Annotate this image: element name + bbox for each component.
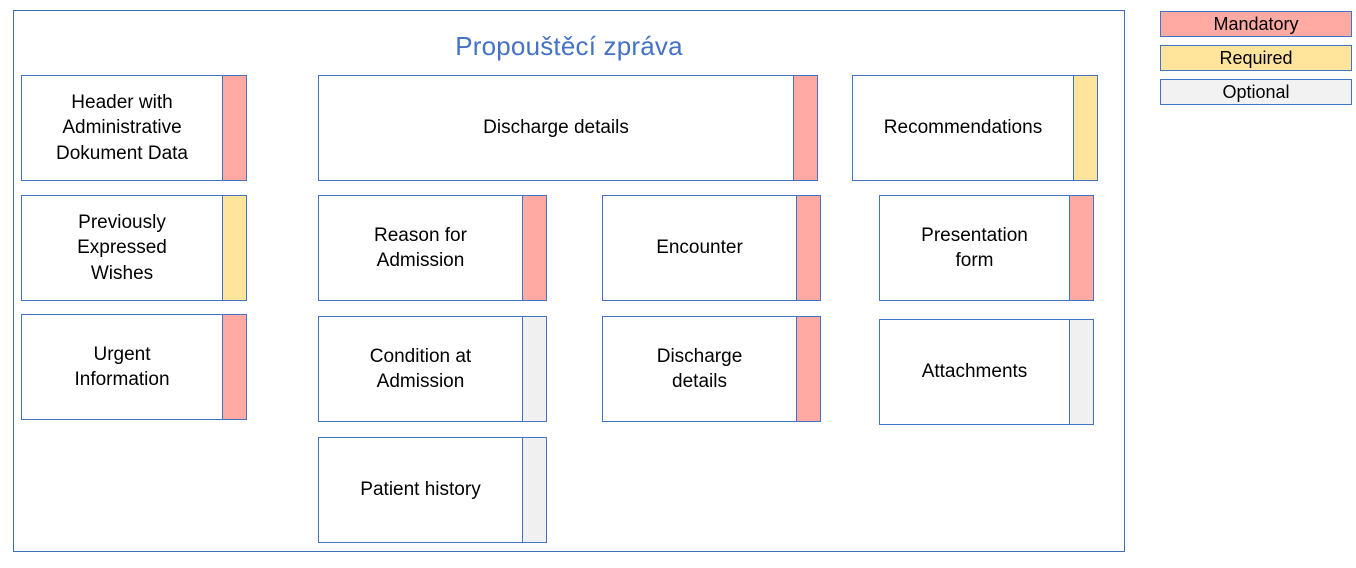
section-level-stripe-mandatory [794,75,818,181]
section-level-stripe-optional [1070,319,1094,425]
section-discharge-details-main[interactable]: Discharge details [318,75,818,181]
section-level-stripe-mandatory [1070,195,1094,301]
section-level-stripe-mandatory [797,195,821,301]
section-attachments[interactable]: Attachments [879,319,1094,425]
section-encounter[interactable]: Encounter [602,195,821,301]
section-level-stripe-required [1074,75,1098,181]
section-reason-for-admission[interactable]: Reason for Admission [318,195,547,301]
section-condition-at-admission[interactable]: Condition at Admission [318,316,547,422]
section-level-stripe-mandatory [223,75,247,181]
section-level-stripe-mandatory [223,314,247,420]
section-label: Encounter [602,195,797,301]
section-label: Recommendations [852,75,1074,181]
section-label: Reason for Admission [318,195,523,301]
section-level-stripe-required [223,195,247,301]
diagram-canvas: Propouštěcí zpráva Header with Administr… [0,0,1356,568]
page-title: Propouštěcí zpráva [14,31,1124,62]
legend: Mandatory Required Optional [1160,11,1352,113]
section-level-stripe-optional [523,437,547,543]
section-label: Discharge details [318,75,794,181]
section-label: Presentation form [879,195,1070,301]
section-level-stripe-mandatory [797,316,821,422]
section-recommendations[interactable]: Recommendations [852,75,1098,181]
section-label: Header with Administrative Dokument Data [21,75,223,181]
section-header-administrative-dokument-data[interactable]: Header with Administrative Dokument Data [21,75,247,181]
discharge-report-container: Propouštěcí zpráva Header with Administr… [13,10,1125,552]
section-label: Condition at Admission [318,316,523,422]
legend-item-mandatory: Mandatory [1160,11,1352,37]
section-presentation-form[interactable]: Presentation form [879,195,1094,301]
section-label: Urgent Information [21,314,223,420]
section-previously-expressed-wishes[interactable]: Previously Expressed Wishes [21,195,247,301]
section-level-stripe-optional [523,316,547,422]
section-patient-history[interactable]: Patient history [318,437,547,543]
section-label: Attachments [879,319,1070,425]
section-label: Previously Expressed Wishes [21,195,223,301]
section-label: Discharge details [602,316,797,422]
legend-item-optional: Optional [1160,79,1352,105]
section-level-stripe-mandatory [523,195,547,301]
section-discharge-details-sub[interactable]: Discharge details [602,316,821,422]
section-label: Patient history [318,437,523,543]
section-urgent-information[interactable]: Urgent Information [21,314,247,420]
legend-item-required: Required [1160,45,1352,71]
